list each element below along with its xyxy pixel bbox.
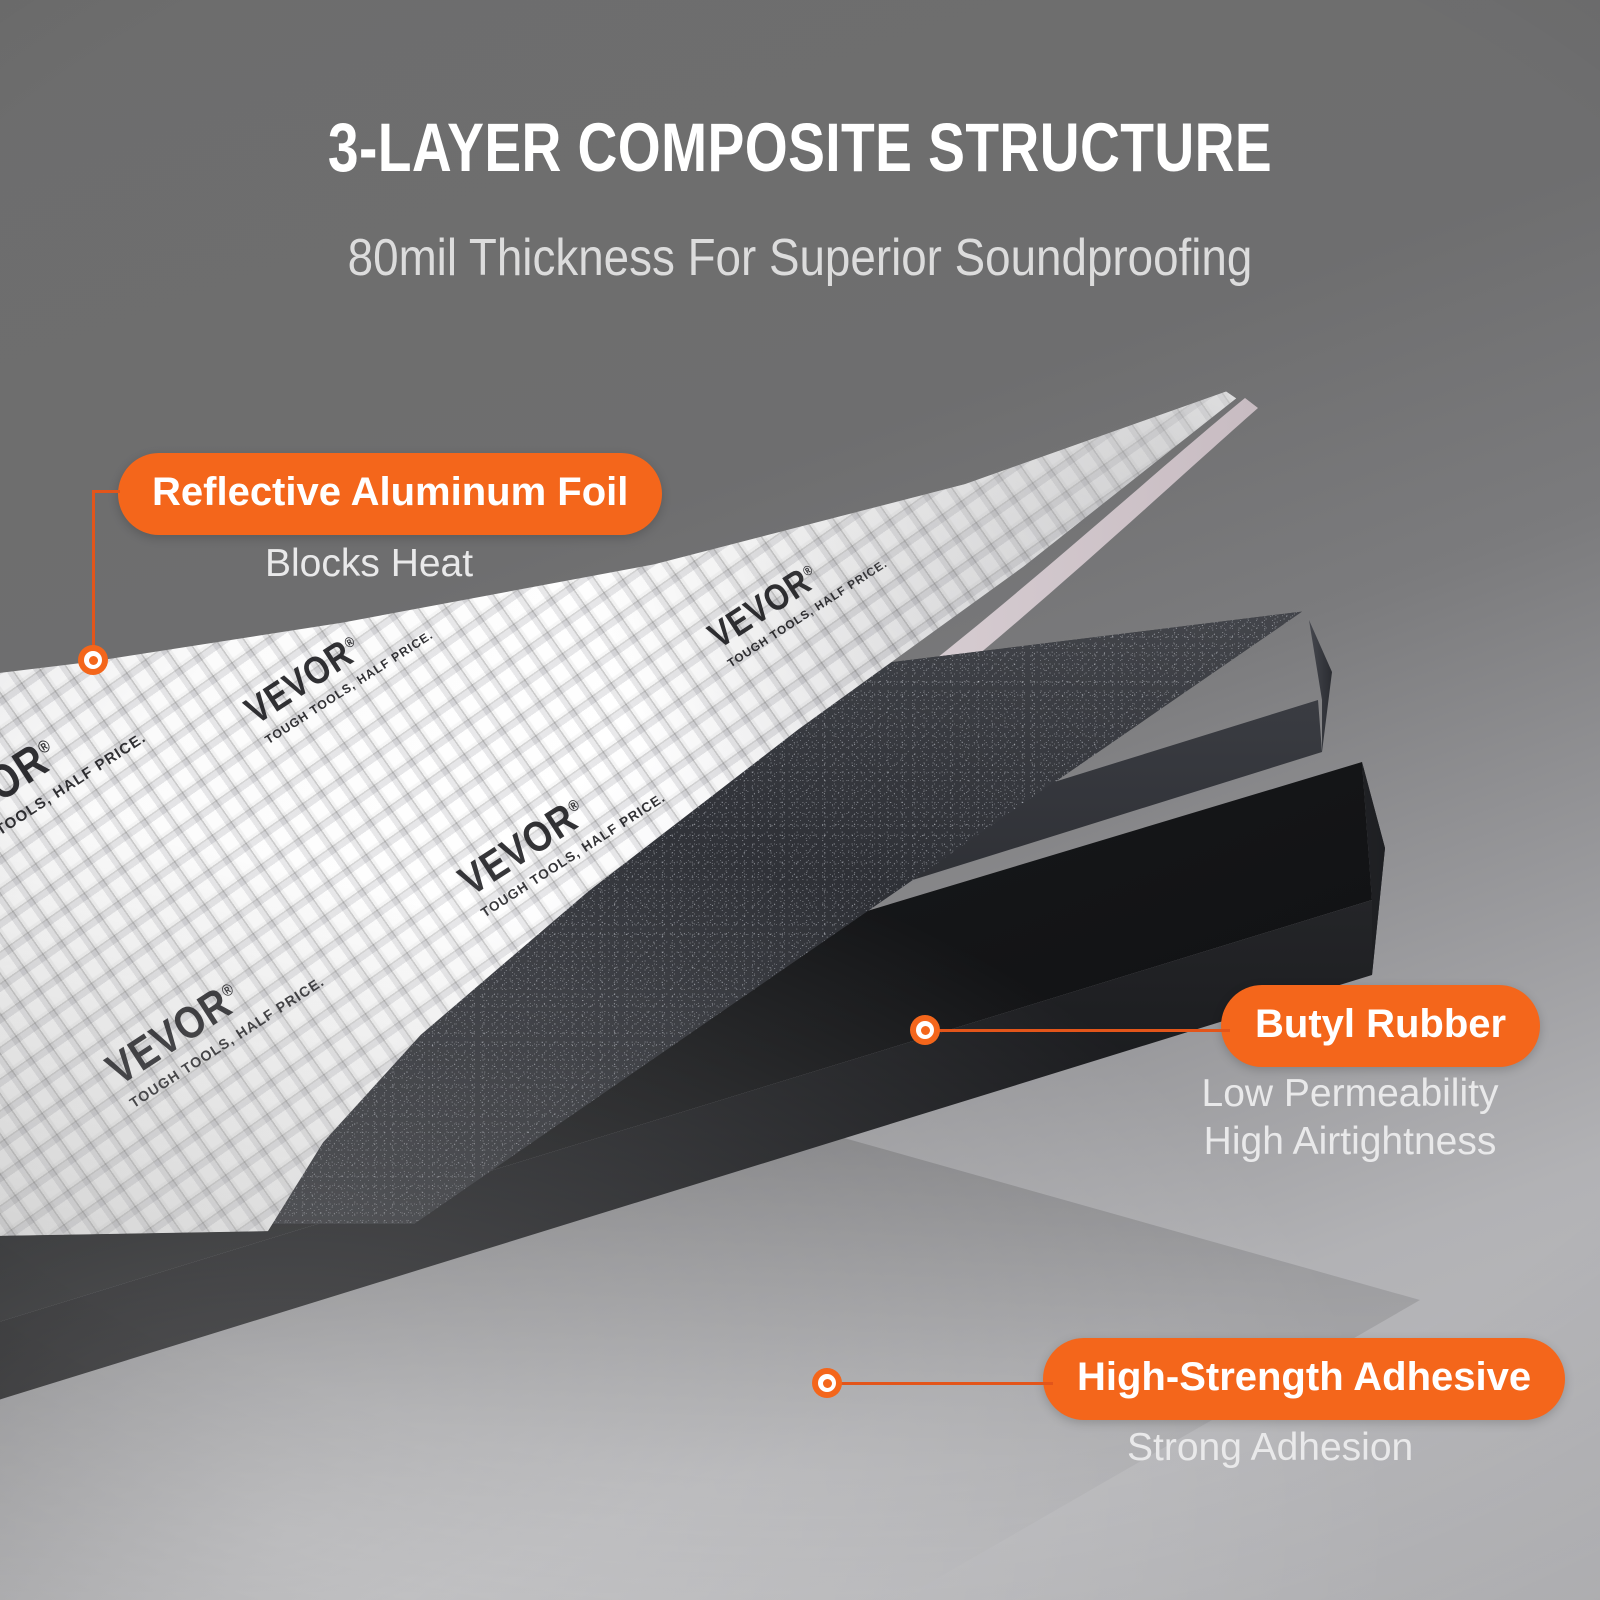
leader-line-foil: [92, 490, 95, 660]
callout-label-foil[interactable]: Reflective Aluminum Foil: [118, 453, 662, 535]
callout-label-butyl[interactable]: Butyl Rubber: [1221, 985, 1540, 1067]
callout-caption-butyl-line1: Low Permeability: [1185, 1070, 1515, 1118]
product-infographic: VEVOR® TOUGH TOOLS, HALF PRICE. VEVOR® T…: [0, 0, 1600, 1600]
callout-caption-adhesive: Strong Adhesion: [1127, 1424, 1413, 1472]
callout-caption-butyl-line2: High Airtightness: [1185, 1118, 1515, 1166]
page-subtitle: 80mil Thickness For Superior Soundproofi…: [96, 228, 1504, 288]
leader-line-foil-hook: [92, 490, 120, 493]
callout-caption-foil: Blocks Heat: [265, 540, 473, 588]
callout-label-adhesive[interactable]: High-Strength Adhesive: [1043, 1338, 1565, 1420]
leader-line-adhesive: [838, 1382, 1053, 1385]
page-title: 3-LAYER COMPOSITE STRUCTURE: [160, 108, 1440, 187]
target-ring-icon-butyl[interactable]: [910, 1015, 940, 1045]
target-ring-icon-foil[interactable]: [78, 645, 108, 675]
target-ring-icon-adhesive[interactable]: [812, 1368, 842, 1398]
leader-line-butyl: [935, 1029, 1230, 1032]
